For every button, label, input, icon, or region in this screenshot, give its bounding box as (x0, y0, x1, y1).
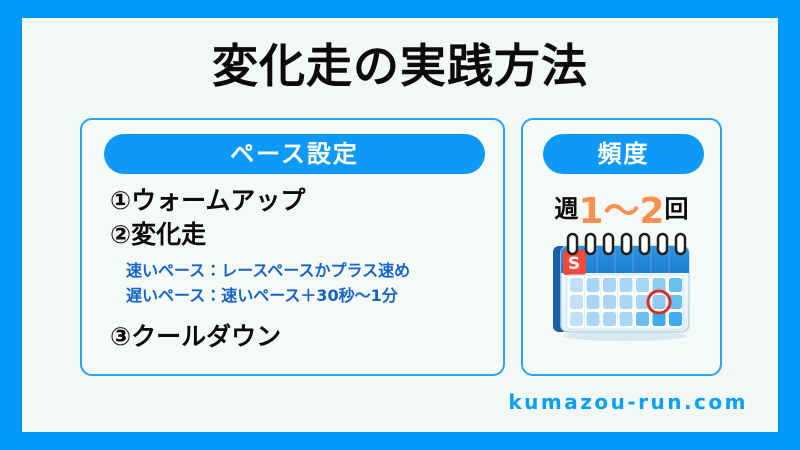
calendar-spiral-rings (568, 234, 685, 254)
site-url: kumazou-run.com (508, 390, 748, 414)
step-cooldown: ③クールダウン (110, 320, 490, 354)
slide-canvas: 変化走の実践方法 ペース設定 ①ウォームアップ ②変化走 速いペース：レースペー… (22, 18, 778, 432)
frequency-panel: 頻度 週1〜2回 (521, 118, 722, 376)
outer-blue-frame: 変化走の実践方法 ペース設定 ①ウォームアップ ②変化走 速いペース：レースペー… (0, 0, 800, 450)
step-warmup: ①ウォームアップ (110, 184, 490, 218)
substep-slow-pace: 遅いペース：速いペース＋30秒〜1分 (126, 283, 490, 308)
pace-setting-header: ペース設定 (104, 134, 485, 174)
frequency-prefix: 週 (554, 195, 578, 223)
frequency-number: 1〜2 (578, 191, 664, 232)
pace-substeps-list: 速いペース：レースペースかプラス速め 遅いペース：速いペース＋30秒〜1分 (126, 258, 490, 308)
page-title: 変化走の実践方法 (22, 40, 778, 92)
calendar-day-cells (570, 278, 682, 326)
pace-setting-panel: ペース設定 ①ウォームアップ ②変化走 速いペース：レースペースかプラス速め 遅… (80, 118, 505, 376)
step-henkaso: ②変化走 (110, 218, 490, 252)
calendar-sunday-tab-label: S (568, 254, 580, 274)
frequency-value-line: 週1〜2回 (523, 182, 720, 234)
frequency-suffix: 回 (665, 195, 689, 223)
calendar-icon-svg: S (543, 232, 703, 344)
frequency-header: 頻度 (543, 134, 704, 174)
substep-fast-pace: 速いペース：レースペースかプラス速め (126, 258, 490, 283)
pace-steps-list: ①ウォームアップ ②変化走 速いペース：レースペースかプラス速め 遅いペース：速… (110, 184, 490, 354)
calendar-icon: S (543, 232, 703, 344)
